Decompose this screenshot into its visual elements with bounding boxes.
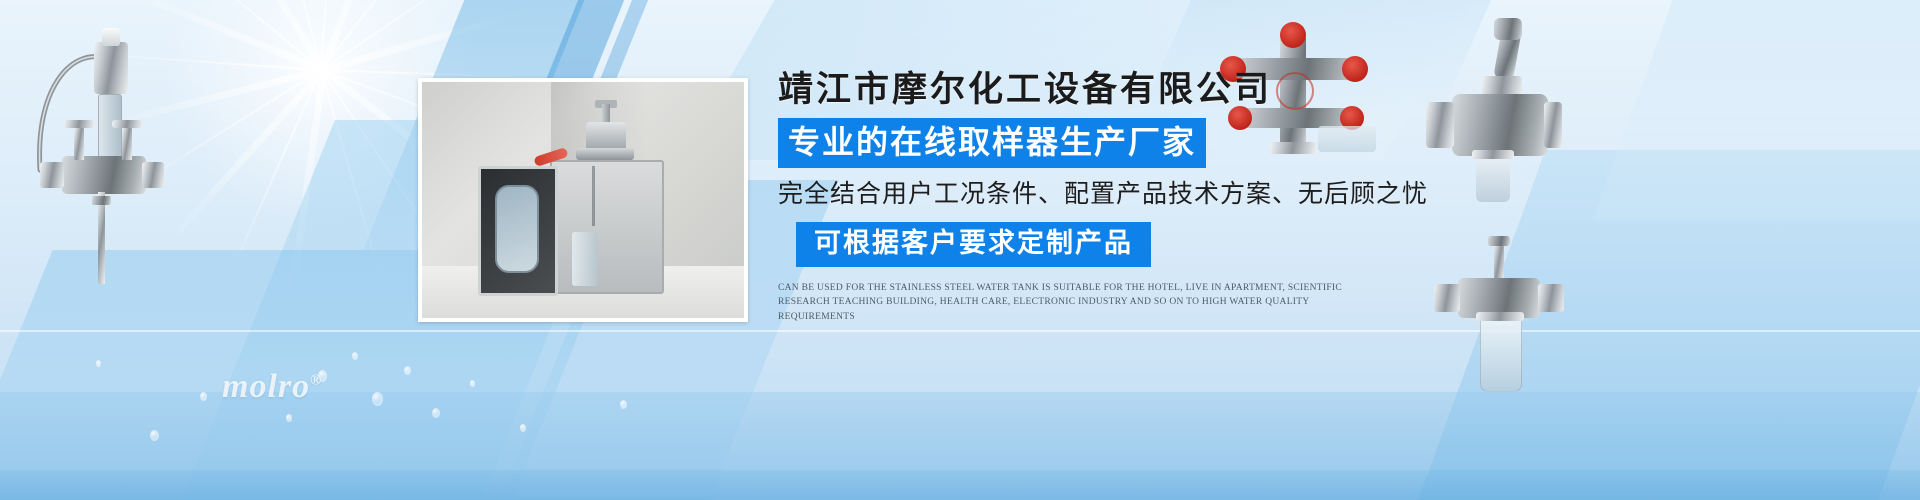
water-droplet [620,400,627,409]
english-caption: CAN BE USED FOR THE STAINLESS STEEL WATE… [778,281,1378,325]
right-equipment-sampling-valve [1428,240,1578,420]
photo-door-window [495,185,539,273]
sampler-flange-right [1538,284,1564,312]
sampler-bottle-collar [1476,312,1524,321]
post-collar [92,196,111,205]
registered-mark-icon: ® [310,373,322,389]
instrument-head [94,42,128,94]
instrument-cap [102,28,120,46]
banner-text-block: 靖江市摩尔化工设备有限公司 专业的在线取样器生产厂家 完全结合用户工况条件、配置… [778,72,1398,325]
valve-manifold [62,156,146,194]
sub-headline: 完全结合用户工况条件、配置产品技术方案、无后顾之忧 [778,180,1398,209]
manifold-flange-left [40,162,64,188]
photo-cabinet-door [478,166,558,296]
left-pipe-outline [10,20,170,280]
lever-grip [1494,18,1522,40]
custom-badge: 可根据客户要求定制产品 [796,222,1151,267]
water-droplet [200,392,207,401]
water-droplet [520,424,526,432]
valve-handle-a [64,120,94,128]
brand-watermark-text: molro [222,368,310,405]
mounting-post [98,192,105,284]
water-droplet [96,360,101,367]
photo-cabinet-body [550,160,664,294]
product-photo-image [422,82,744,318]
handwheel-top [1280,22,1306,48]
water-droplet [286,414,292,422]
valve-stem-a [74,128,84,160]
sampler-stem-cap [1488,236,1510,246]
photo-sample-tube [592,166,595,226]
water-droplet [372,392,383,406]
bottom-wash-band [0,470,1920,500]
valve-handle-b [112,120,142,128]
right-equipment-lever-valve [1412,18,1562,218]
valve-port-ring [1472,150,1514,159]
sampler-bottle [1480,316,1522,392]
sampler-flange-left [1434,284,1460,312]
brand-watermark: molro® [222,368,322,406]
photo-sample-bottle [572,232,598,286]
left-equipment-assembly [10,20,170,280]
valve-stem-b [122,128,132,160]
valve-body-main [1452,94,1548,156]
valve-flange-left [1426,102,1454,148]
promo-banner: 靖江市摩尔化工设备有限公司 专业的在线取样器生产厂家 完全结合用户工况条件、配置… [0,0,1920,500]
manifold-flange-right [142,162,164,188]
diagonal-band-10 [1593,0,1920,220]
water-droplet [352,352,358,360]
photo-valve-flange [576,148,634,160]
water-droplet [470,380,475,387]
product-photo [418,78,748,322]
valve-flange-right [1544,102,1562,148]
horizon-line [0,330,1920,332]
photo-valve-head [570,104,638,166]
company-name: 靖江市摩尔化工设备有限公司 [778,72,1398,107]
valve-outlet-glass [1476,154,1510,202]
custom-badge-row: 可根据客户要求定制产品 [778,222,1398,267]
headline-badge: 专业的在线取样器生产厂家 [778,118,1206,168]
water-droplet [404,366,411,375]
water-droplet [150,430,159,441]
water-droplet [432,408,440,418]
headline-row: 专业的在线取样器生产厂家 [778,118,1398,168]
sampler-stem [1494,242,1504,280]
